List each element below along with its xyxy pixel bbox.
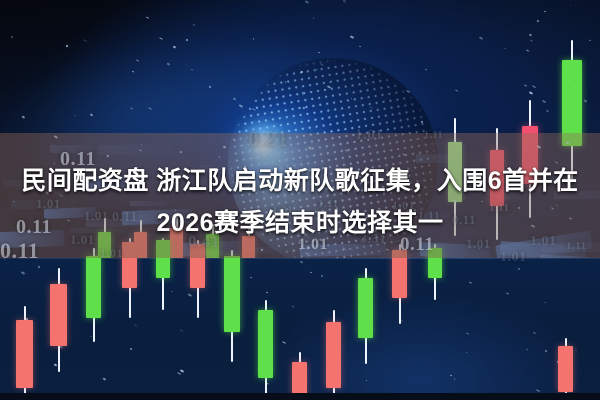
candlestick-down: [16, 306, 33, 400]
news-thumbnail-image: 0.110.211.011.011.010.110.111.010.111.01…: [0, 0, 600, 400]
candle-body: [558, 346, 573, 392]
price-number: 1.01: [500, 250, 527, 266]
candle-body: [224, 256, 240, 332]
candle-body: [258, 310, 273, 378]
candlestick-up: [358, 268, 373, 364]
bottom-edge: [0, 393, 600, 400]
headline-line-2: 2026赛季结束时选择其一: [0, 202, 600, 244]
page-title: 民间配资盘 浙江队启动新队歌征集，入围6首并在 2026赛季结束时选择其一: [0, 160, 600, 244]
candlestick-down: [326, 310, 341, 400]
candle-body: [326, 322, 341, 388]
price-number: 0.21: [248, 126, 289, 152]
candlestick-up: [258, 300, 273, 400]
candle-body: [358, 278, 373, 338]
candle-body: [86, 256, 101, 318]
price-number: 1.11: [424, 130, 443, 141]
headline-line-1: 民间配资盘 浙江队启动新队歌征集，入围6首并在: [0, 160, 600, 202]
candlestick-down: [558, 338, 573, 400]
candle-body: [16, 320, 33, 388]
candlestick-down: [50, 268, 67, 372]
price-number: 1.01: [355, 127, 383, 144]
candlestick-up: [86, 248, 101, 342]
price-number: 1.01: [100, 246, 123, 261]
candle-body: [50, 284, 67, 346]
candlestick-up: [224, 250, 240, 362]
